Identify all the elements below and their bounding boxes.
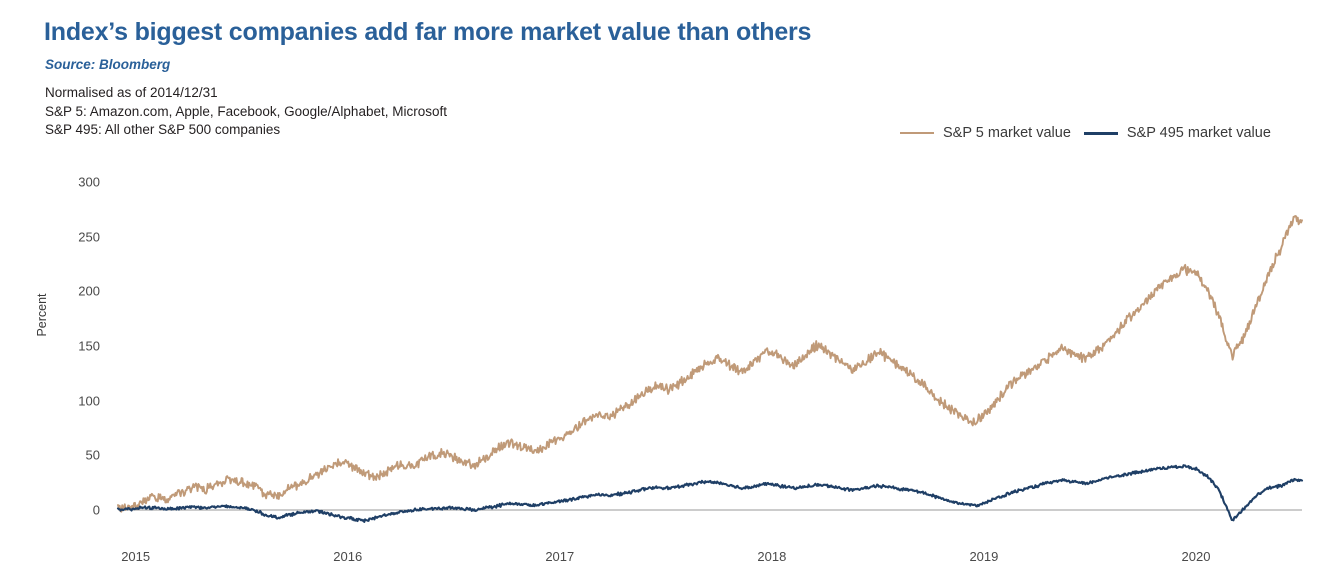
y-tick-label: 100 xyxy=(36,393,100,408)
y-tick-label: 150 xyxy=(36,339,100,354)
y-tick-label: 300 xyxy=(36,175,100,190)
x-tick-label: 2015 xyxy=(121,549,150,564)
x-tick-label: 2018 xyxy=(757,549,786,564)
x-tick-label: 2016 xyxy=(333,549,362,564)
y-tick-label: 50 xyxy=(36,448,100,463)
y-tick-label: 250 xyxy=(36,229,100,244)
plot-area xyxy=(0,0,1343,584)
y-tick-label: 0 xyxy=(36,503,100,518)
chart-container: Index’s biggest companies add far more m… xyxy=(0,0,1343,584)
x-tick-label: 2020 xyxy=(1182,549,1211,564)
x-tick-label: 2019 xyxy=(969,549,998,564)
series-line-sp495 xyxy=(118,465,1302,522)
series-line-sp5 xyxy=(118,216,1302,512)
y-tick-label: 200 xyxy=(36,284,100,299)
plot-svg xyxy=(0,0,1343,584)
x-tick-label: 2017 xyxy=(545,549,574,564)
